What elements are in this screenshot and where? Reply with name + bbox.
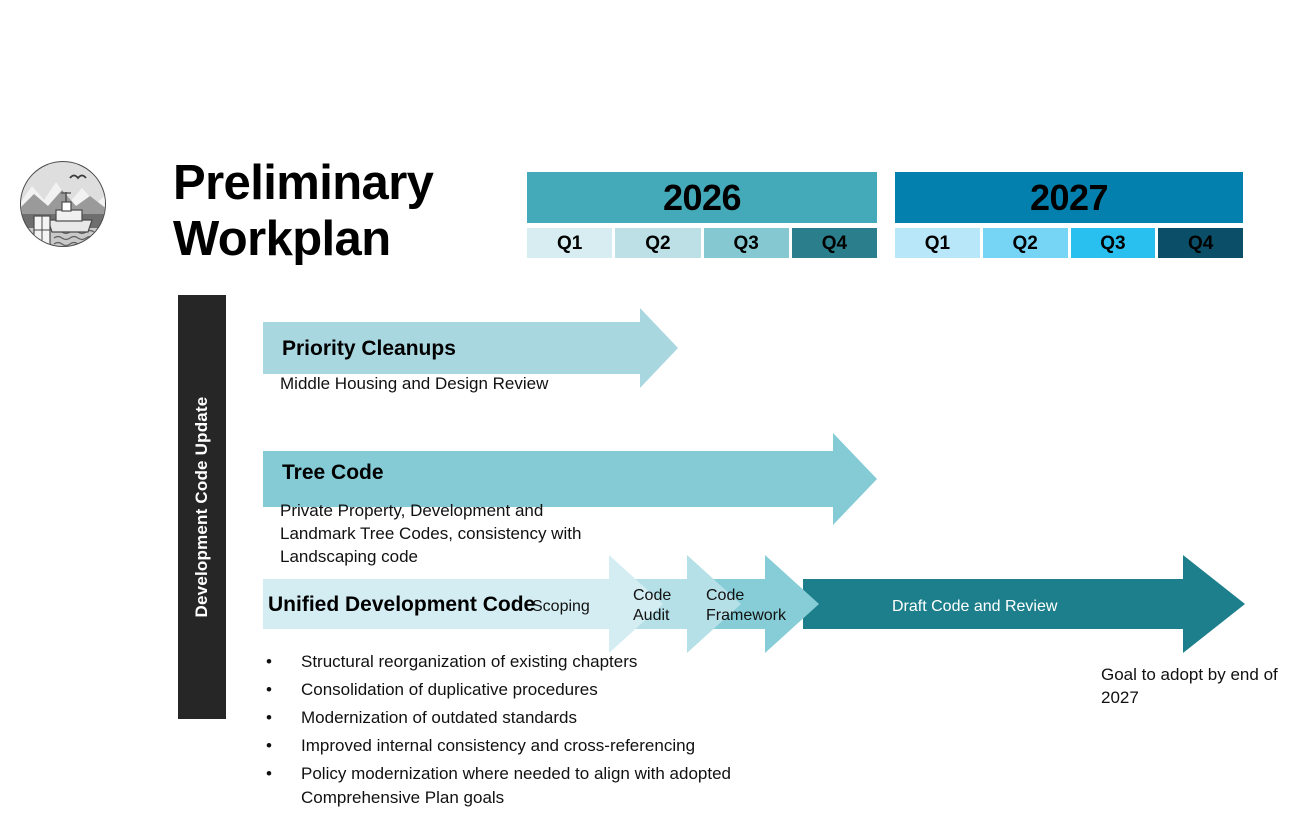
year-bar-2026: 2026: [527, 172, 877, 223]
list-item: Modernization of outdated standards: [263, 706, 783, 729]
bullet-list: Structural reorganization of existing ch…: [263, 650, 783, 809]
quarter-row-2027: Q1 Q2 Q3 Q4: [895, 228, 1243, 258]
unified-development-code-label: Unified Development Code: [268, 594, 535, 615]
quarter-2026-q3[interactable]: Q3: [704, 228, 789, 258]
city-seal-logo: [18, 158, 108, 250]
goal-note: Goal to adopt by end of 2027: [1101, 663, 1281, 710]
list-item: Structural reorganization of existing ch…: [263, 650, 783, 673]
list-item: Policy modernization where needed to ali…: [263, 762, 783, 808]
priority-cleanups-label: Priority Cleanups: [282, 338, 456, 359]
stage-label-code-framework: CodeFramework: [706, 586, 786, 625]
track-label-band: Development Code Update: [178, 295, 226, 719]
quarter-2026-q4[interactable]: Q4: [792, 228, 877, 258]
city-seal-logo-graphic: [18, 158, 108, 250]
quarter-2027-q3[interactable]: Q3: [1071, 228, 1156, 258]
quarter-2026-q2[interactable]: Q2: [615, 228, 700, 258]
quarter-2026-q1[interactable]: Q1: [527, 228, 612, 258]
stage-label-scoping: Scoping: [532, 597, 590, 617]
page-title: Preliminary Workplan: [173, 156, 523, 268]
quarter-2027-q2[interactable]: Q2: [983, 228, 1068, 258]
priority-cleanups-description: Middle Housing and Design Review: [280, 373, 610, 396]
quarter-2027-q1[interactable]: Q1: [895, 228, 980, 258]
year-block-2026: 2026 Q1 Q2 Q3 Q4: [527, 172, 877, 258]
track-label-text: Development Code Update: [192, 397, 212, 618]
slide-canvas: Preliminary Workplan 2026 Q1 Q2 Q3 Q4 20…: [0, 0, 1299, 830]
year-block-2027: 2027 Q1 Q2 Q3 Q4: [895, 172, 1243, 258]
list-item: Improved internal consistency and cross-…: [263, 734, 783, 757]
quarter-row-2026: Q1 Q2 Q3 Q4: [527, 228, 877, 258]
year-bar-2027: 2027: [895, 172, 1243, 223]
stage-label-draft-code-and-review: Draft Code and Review: [892, 597, 1057, 617]
stage-label-code-audit: CodeAudit: [633, 586, 671, 625]
unified-development-code-bullets: Structural reorganization of existing ch…: [263, 650, 783, 814]
tree-code-label: Tree Code: [282, 462, 384, 483]
quarter-2027-q4[interactable]: Q4: [1158, 228, 1243, 258]
list-item: Consolidation of duplicative procedures: [263, 678, 783, 701]
